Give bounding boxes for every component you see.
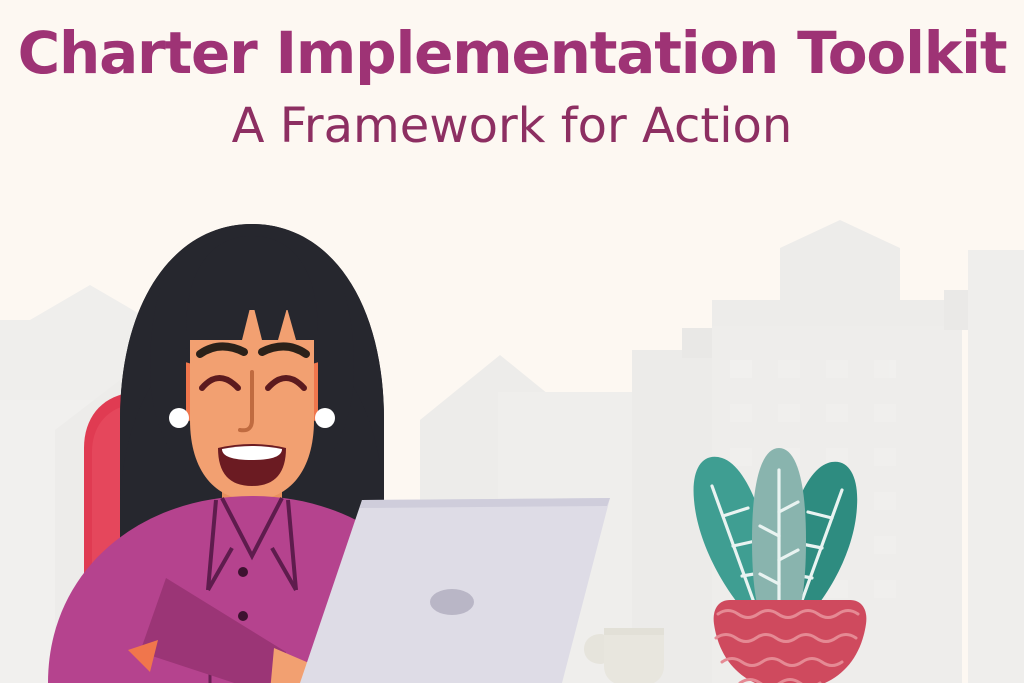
scene-illustration — [0, 0, 1024, 683]
button — [238, 611, 248, 621]
button — [238, 567, 248, 577]
plant-pot — [714, 600, 867, 683]
earring-right — [315, 408, 335, 428]
earring-left — [169, 408, 189, 428]
illustration-banner: Charter Implementation Toolkit A Framewo… — [0, 0, 1024, 683]
laptop-logo — [430, 589, 474, 615]
